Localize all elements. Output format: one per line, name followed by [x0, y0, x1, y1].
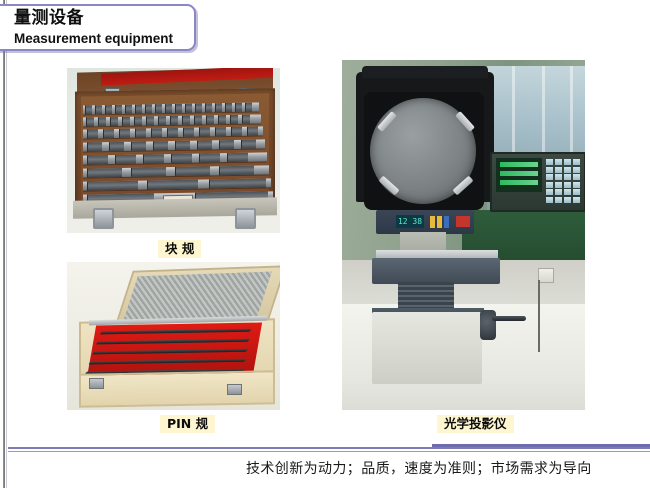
dro-key[interactable]: [573, 174, 580, 180]
dro-key[interactable]: [546, 174, 553, 180]
footer-divider-top: [8, 447, 650, 449]
stage-knob[interactable]: [480, 310, 496, 340]
photo-gauge-block-set: [67, 68, 280, 233]
dro-key[interactable]: [555, 182, 562, 188]
caption-pin-gauge-set: PIN 规: [160, 415, 215, 433]
left-margin-rule-inner: [6, 0, 7, 488]
dro-key[interactable]: [564, 167, 571, 173]
page-title-cn: 量测设备: [14, 8, 84, 29]
box-front-panel: [79, 370, 275, 407]
projector-control-panel[interactable]: 12 38: [376, 210, 474, 234]
dro-key[interactable]: [564, 159, 571, 165]
dro-keypad[interactable]: [546, 159, 580, 204]
dro-key[interactable]: [573, 197, 580, 203]
control-button-blue[interactable]: [444, 216, 449, 228]
dro-key[interactable]: [573, 167, 580, 173]
dro-key[interactable]: [564, 197, 571, 203]
dro-key[interactable]: [546, 189, 553, 195]
dro-key[interactable]: [555, 174, 562, 180]
projector-base: [372, 312, 482, 384]
control-button-yellow[interactable]: [430, 216, 435, 228]
control-button-yellow[interactable]: [437, 216, 442, 228]
stage-handle[interactable]: [492, 316, 526, 321]
latch-left-icon: [89, 378, 104, 389]
footer-slogan: 技术创新为动力；品质，速度为准则；市场需求为导向: [246, 458, 592, 478]
dro-key[interactable]: [555, 167, 562, 173]
dro-key[interactable]: [555, 189, 562, 195]
left-margin-rule: [3, 0, 5, 488]
dro-key[interactable]: [546, 167, 553, 173]
dro-key[interactable]: [564, 174, 571, 180]
footer-divider-bottom: [8, 451, 650, 452]
caption-optical-projector: 光学投影仪: [437, 415, 514, 433]
latch-right-icon: [235, 208, 256, 229]
photo-optical-projector: 12 38: [342, 60, 585, 410]
dro-key[interactable]: [546, 159, 553, 165]
dro-key[interactable]: [555, 197, 562, 203]
slide-title-box: 量测设备 Measurement equipment: [0, 4, 196, 51]
measuring-stage: [372, 258, 500, 284]
dro-key[interactable]: [564, 182, 571, 188]
dro-key[interactable]: [573, 159, 580, 165]
dro-key[interactable]: [546, 182, 553, 188]
latch-left-icon: [93, 208, 114, 229]
latch-right-icon: [227, 384, 242, 395]
control-button-red[interactable]: [456, 216, 470, 227]
lid-red-lining: [101, 68, 273, 86]
projector-hood-top: [362, 66, 488, 78]
wall-socket: [538, 268, 554, 283]
slide-canvas: 量测设备 Measurement equipment: [0, 0, 650, 488]
page-title-en: Measurement equipment: [14, 30, 173, 47]
dro-key[interactable]: [573, 182, 580, 188]
dro-display: [496, 158, 542, 192]
dro-key[interactable]: [546, 197, 553, 203]
photo-pin-gauge-set: [67, 262, 280, 410]
dro-key[interactable]: [573, 189, 580, 195]
power-cord: [538, 280, 540, 352]
projector-readout-display: 12 38: [396, 215, 424, 228]
caption-gauge-block-set: 块 规: [158, 240, 201, 258]
dro-key[interactable]: [555, 159, 562, 165]
dro-key[interactable]: [564, 189, 571, 195]
digital-readout-unit[interactable]: [490, 152, 585, 212]
